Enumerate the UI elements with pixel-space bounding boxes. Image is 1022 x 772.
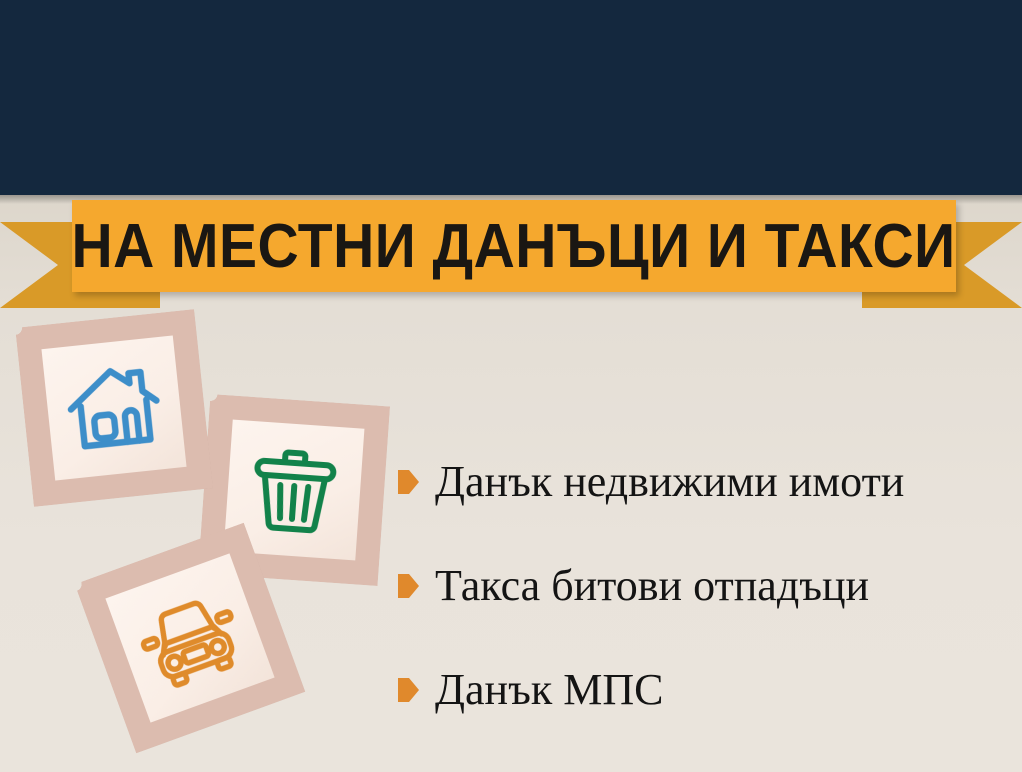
bullet-arrow-icon [398, 574, 419, 598]
list-item-label: Такса битови отпадъци [435, 564, 869, 608]
bullet-arrow-icon [398, 470, 419, 494]
ribbon-label: НА МЕСТНИ ДАНЪЦИ И ТАКСИ [72, 211, 956, 282]
ribbon-body: НА МЕСТНИ ДАНЪЦИ И ТАКСИ [72, 200, 956, 292]
car-icon [122, 570, 258, 706]
subtitle-ribbon: НА МЕСТНИ ДАНЪЦИ И ТАКСИ [0, 196, 1022, 308]
list-item-label: Данък МПС [435, 668, 663, 712]
house-icon [57, 351, 171, 465]
list-item[interactable]: Данък недвижими имоти [398, 430, 1018, 534]
trash-bin-icon [241, 437, 348, 544]
stamp-paper [41, 335, 186, 480]
list-item-label: Данък недвижими имоти [435, 460, 904, 504]
list-item[interactable]: Данък МПС [398, 638, 1018, 742]
poster-canvas: община ЕЛИН ПЕЛИН ПРОВЕ [0, 0, 1022, 772]
list-item[interactable]: Такса битови отпадъци [398, 534, 1018, 638]
bullet-arrow-icon [398, 678, 419, 702]
header-bar [0, 0, 1022, 195]
stamp-card-property [15, 309, 213, 507]
obligation-types-list: Данък недвижими имоти Такса битови отпад… [398, 430, 1018, 742]
